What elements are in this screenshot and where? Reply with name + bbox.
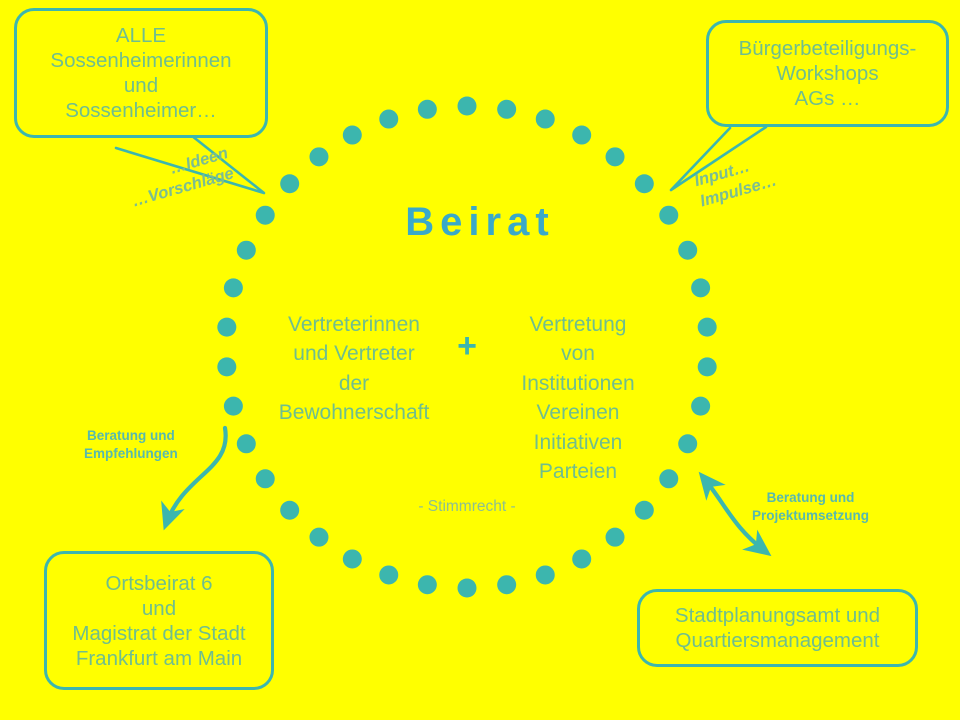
center-right-line-2: von xyxy=(492,339,664,368)
box-ortsbeirat-magistrat[interactable]: Ortsbeirat 6 und Magistrat der Stadt Fra… xyxy=(44,551,274,690)
center-left-line-3: der xyxy=(268,369,440,398)
ring-dot xyxy=(309,147,328,166)
ring-dot xyxy=(606,528,625,547)
ring-dot xyxy=(418,575,437,594)
ring-dot xyxy=(572,549,591,568)
ring-dot xyxy=(343,549,362,568)
label-beratung-projekt-line-2: Projektumsetzung xyxy=(752,507,869,525)
label-beratung-empfehlungen-line-1: Beratung und xyxy=(84,427,178,445)
box-alle-sossenheimer[interactable]: ALLE Sossenheimerinnen und Sossenheimer… xyxy=(14,8,268,138)
box-workshops-line-1: Bürgerbeteiligungs- xyxy=(739,36,917,61)
label-beratung-projekt-line-1: Beratung und xyxy=(752,489,869,507)
box-ortsbeirat-line-3: Magistrat der Stadt xyxy=(72,621,245,646)
stimmrecht-footnote: - Stimmrecht - xyxy=(347,498,587,516)
center-left-line-1: Vertreterinnen xyxy=(268,310,440,339)
box-alle-line-2: Sossenheimerinnen xyxy=(50,48,231,73)
ring-dot xyxy=(217,357,236,376)
box-alle-line-1: ALLE xyxy=(116,23,166,48)
ring-dot xyxy=(309,528,328,547)
ring-dot xyxy=(379,110,398,129)
ring-dot xyxy=(536,565,555,584)
ring-dot xyxy=(224,278,243,297)
ring-dot xyxy=(224,397,243,416)
ring-dot xyxy=(635,501,654,520)
ring-dot xyxy=(237,434,256,453)
ring-dot xyxy=(280,501,299,520)
ring-dot xyxy=(691,397,710,416)
center-left-line-2: und Vertreter xyxy=(268,339,440,368)
ring-dot xyxy=(536,110,555,129)
ring-dot xyxy=(678,434,697,453)
label-beratung-und-projektumsetzung: Beratung und Projektumsetzung xyxy=(752,489,869,525)
ring-dot xyxy=(698,318,717,337)
ring-dot xyxy=(698,357,717,376)
center-right-line-4: Vereinen xyxy=(492,398,664,427)
label-beratung-und-empfehlungen: Beratung und Empfehlungen xyxy=(84,427,178,463)
ring-dot xyxy=(458,579,477,598)
box-stadtplanungsamt-quartiersmanagement[interactable]: Stadtplanungsamt und Quartiersmanagement xyxy=(637,589,918,667)
center-right-line-6: Parteien xyxy=(492,457,664,486)
ring-dot xyxy=(256,469,275,488)
center-right-line-1: Vertretung xyxy=(492,310,664,339)
ring-dot xyxy=(606,147,625,166)
box-stadtplanung-line-2: Quartiersmanagement xyxy=(676,628,880,653)
ring-dot xyxy=(418,100,437,119)
center-right-line-5: Initiativen xyxy=(492,428,664,457)
box-workshops-line-2: Workshops xyxy=(776,61,878,86)
ring-dot xyxy=(217,318,236,337)
box-alle-line-4: Sossenheimer… xyxy=(65,98,217,123)
center-right-line-3: Institutionen xyxy=(492,369,664,398)
plus-icon: + xyxy=(447,329,487,363)
diagram-canvas: ALLE Sossenheimerinnen und Sossenheimer…… xyxy=(0,0,960,720)
ring-dot xyxy=(635,174,654,193)
ring-dot xyxy=(572,126,591,145)
label-beratung-empfehlungen-line-2: Empfehlungen xyxy=(84,445,178,463)
box-ortsbeirat-line-1: Ortsbeirat 6 xyxy=(105,571,212,596)
center-left-line-4: Bewohnerschaft xyxy=(268,398,440,427)
center-column-bewohnerschaft: Vertreterinnen und Vertreter der Bewohne… xyxy=(268,310,440,428)
box-buergerbeteiligungs-workshops[interactable]: Bürgerbeteiligungs- Workshops AGs … xyxy=(706,20,949,127)
ring-dot xyxy=(280,174,299,193)
ring-dot xyxy=(497,575,516,594)
box-stadtplanung-line-1: Stadtplanungsamt und xyxy=(675,603,880,628)
ring-dot xyxy=(379,565,398,584)
ring-dot xyxy=(691,278,710,297)
box-workshops-line-3: AGs … xyxy=(794,86,860,111)
ring-dot xyxy=(458,97,477,116)
box-alle-line-3: und xyxy=(124,73,158,98)
ring-dot xyxy=(343,126,362,145)
box-ortsbeirat-line-2: und xyxy=(142,596,176,621)
center-column-institutionen: Vertretung von Institutionen Vereinen In… xyxy=(492,310,664,486)
box-ortsbeirat-line-4: Frankfurt am Main xyxy=(76,646,242,671)
ring-dot xyxy=(497,100,516,119)
